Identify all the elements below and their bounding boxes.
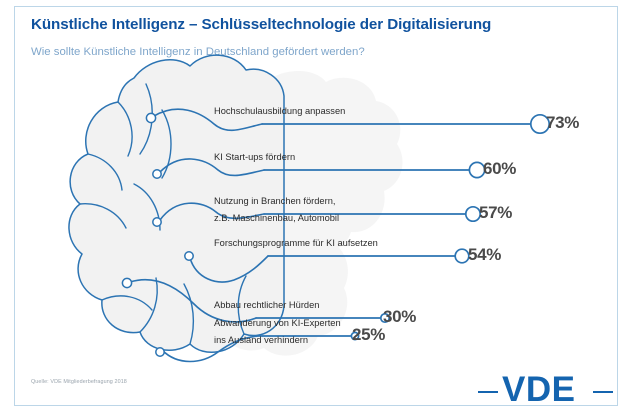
logo-dash-right	[593, 391, 613, 393]
list-item-line2: ins Ausland verhindern	[214, 334, 308, 347]
status-badge: 73%	[546, 113, 579, 133]
logo-dash-left	[478, 391, 498, 393]
list-item: Forschungsprogramme für KI aufsetzen	[214, 237, 378, 250]
list-item-line2: z.B. Maschinenbau, Automobil	[214, 212, 339, 225]
list-item: Hochschulausbildung anpassen	[214, 105, 345, 118]
data-rows: Hochschulausbildung anpassen 73% KI Star…	[0, 0, 630, 412]
list-item: KI Start-ups fördern	[214, 151, 295, 164]
status-badge: 54%	[468, 245, 501, 265]
logo-wordmark: VDE	[502, 374, 575, 410]
list-item: Abbau rechtlicher Hürden	[214, 299, 319, 312]
status-badge: 25%	[352, 325, 385, 345]
status-badge: 57%	[479, 203, 512, 223]
source-note: Quelle: VDE Mitgliederbefragung 2018	[31, 379, 127, 385]
list-item: Abwanderung von KI-Experten	[214, 317, 341, 330]
infographic-canvas: Künstliche Intelligenz – Schlüsseltechno…	[0, 0, 630, 412]
list-item: Nutzung in Branchen fördern,	[214, 195, 335, 208]
status-badge: 60%	[483, 159, 516, 179]
vde-logo: VDE	[478, 374, 618, 412]
status-badge: 30%	[383, 307, 416, 327]
